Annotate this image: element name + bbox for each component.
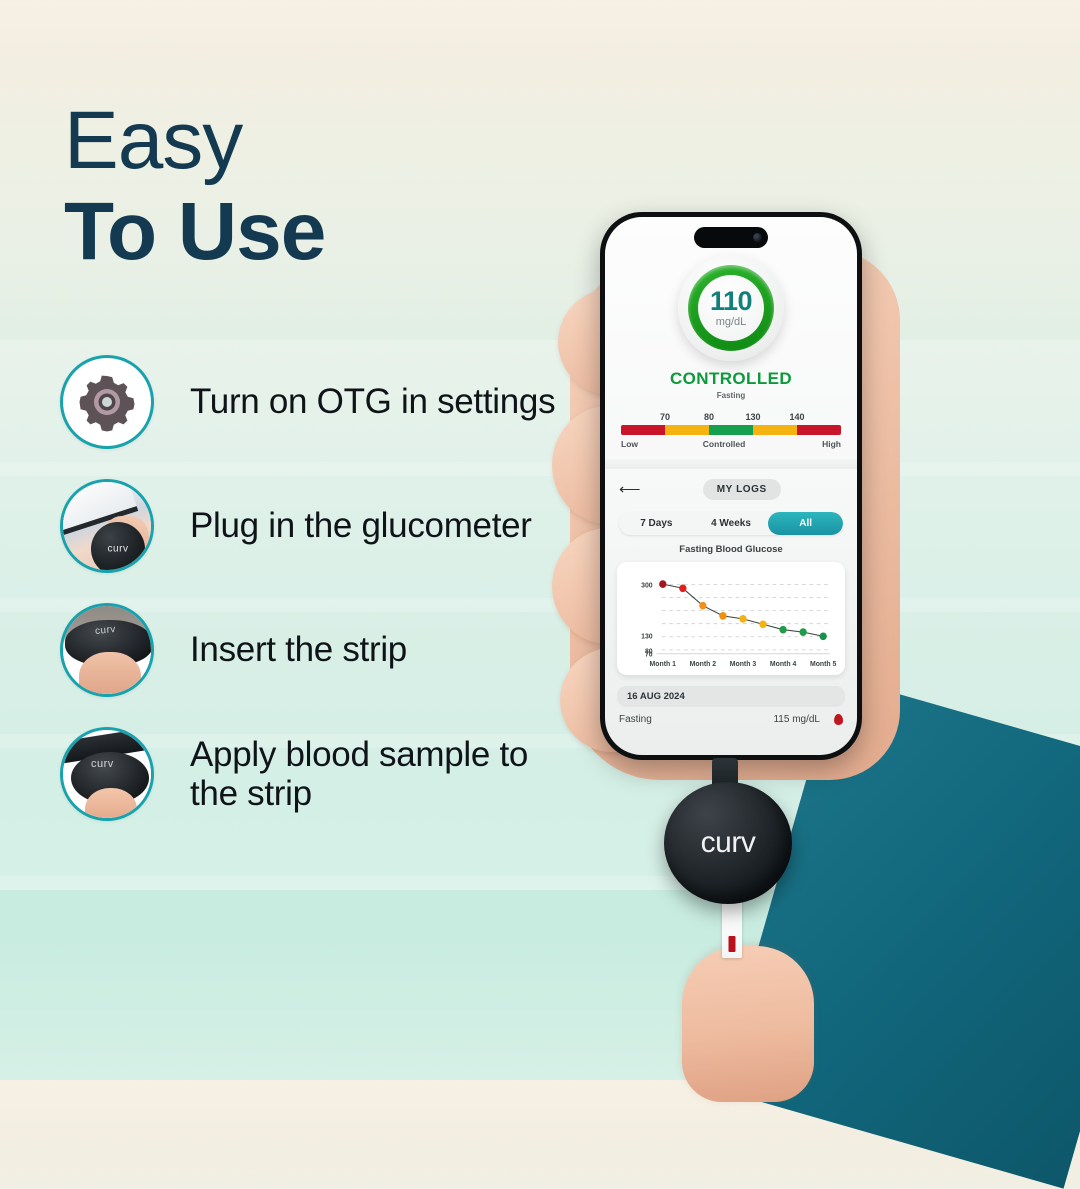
chart-line-series — [663, 584, 823, 636]
chart-y-axis-labels: 3001308070 — [641, 582, 653, 658]
svg-text:300: 300 — [641, 582, 653, 589]
range-legend-low: Low — [621, 439, 638, 449]
filter-all[interactable]: All — [768, 512, 843, 535]
chart-point-7[interactable] — [779, 626, 786, 634]
range-legend-controlled: Controlled — [703, 439, 746, 449]
range-segment-elevated — [753, 425, 797, 435]
range-tick-80: 80 — [704, 412, 714, 422]
my-logs-title: MY LOGS — [703, 479, 781, 500]
range-segment-low — [621, 425, 665, 435]
chart-point-9[interactable] — [819, 632, 826, 640]
chart-point-3[interactable] — [699, 602, 706, 610]
gauge-core: 110 mg/dL — [698, 275, 764, 341]
logs-filter-segmented-control[interactable]: 7 Days 4 Weeks All — [619, 512, 843, 535]
chart-point-4[interactable] — [719, 612, 726, 620]
chart-canvas: 3001308070 Month 1Month 2Month 3Month 4M… — [625, 571, 837, 671]
logs-header: ⟵ MY LOGS — [605, 469, 857, 500]
range-segment-borderline — [665, 425, 709, 435]
dynamic-island — [694, 227, 768, 248]
range-segment-high — [797, 425, 841, 435]
svg-text:Month 4: Month 4 — [770, 661, 797, 668]
test-strip — [722, 896, 742, 958]
chart-point-2[interactable] — [679, 584, 686, 592]
gauge-ring: 110 mg/dL — [688, 265, 774, 351]
section-divider — [605, 459, 857, 469]
svg-text:Month 3: Month 3 — [730, 661, 757, 668]
chart-point-8[interactable] — [799, 628, 806, 636]
svg-text:Month 5: Month 5 — [810, 661, 837, 668]
glucose-range-bar: 70 80 130 140 Low Controlled High — [621, 412, 841, 449]
phone-device: 110 mg/dL CONTROLLED Fasting 70 80 130 1… — [600, 212, 862, 760]
log-entry-type: Fasting — [619, 714, 773, 725]
svg-text:Month 1: Month 1 — [650, 661, 677, 668]
filter-7-days[interactable]: 7 Days — [619, 512, 694, 535]
svg-text:130: 130 — [641, 633, 653, 640]
range-tick-130: 130 — [745, 412, 760, 422]
phone-screen: 110 mg/dL CONTROLLED Fasting 70 80 130 1… — [605, 217, 857, 755]
chart-x-axis-labels: Month 1Month 2Month 3Month 4Month 5 — [650, 661, 837, 668]
filter-4-weeks[interactable]: 4 Weeks — [694, 512, 769, 535]
range-tick-70: 70 — [660, 412, 670, 422]
glucose-unit: mg/dL — [716, 316, 747, 328]
blood-drop-icon — [834, 714, 843, 725]
glucose-value: 110 — [710, 288, 752, 315]
front-camera-icon — [753, 233, 762, 242]
chart-point-5[interactable] — [739, 615, 746, 623]
back-arrow-icon[interactable]: ⟵ — [619, 482, 641, 497]
blood-sample — [729, 936, 736, 952]
range-legend: Low Controlled High — [621, 439, 841, 449]
range-tick-140: 140 — [789, 412, 804, 422]
log-entry-row[interactable]: Fasting 115 mg/dL — [619, 714, 843, 725]
glucose-status-sub: Fasting — [605, 391, 857, 400]
glucose-trend-chart[interactable]: 3001308070 Month 1Month 2Month 3Month 4M… — [617, 562, 845, 675]
chart-title: Fasting Blood Glucose — [605, 544, 857, 555]
product-scene: 110 mg/dL CONTROLLED Fasting 70 80 130 1… — [0, 0, 1080, 1080]
range-tick-labels: 70 80 130 140 — [621, 412, 841, 425]
chart-data-points — [659, 580, 827, 640]
glucose-gauge: 110 mg/dL — [678, 255, 784, 361]
range-segment-controlled — [709, 425, 753, 435]
log-date-header: 16 AUG 2024 — [617, 686, 845, 707]
glucose-status-badge: CONTROLLED — [605, 369, 857, 389]
svg-text:70: 70 — [645, 651, 653, 658]
chart-point-6[interactable] — [759, 620, 766, 628]
log-entry-value: 115 mg/dL — [773, 714, 820, 725]
glucometer-device: curv — [664, 782, 792, 904]
thumb-fingertip — [682, 946, 814, 1102]
range-bar-segments — [621, 425, 841, 435]
range-legend-high: High — [822, 439, 841, 449]
curv-brand-logo: curv — [701, 826, 756, 860]
svg-text:Month 2: Month 2 — [690, 661, 717, 668]
chart-point-1[interactable] — [659, 580, 666, 588]
